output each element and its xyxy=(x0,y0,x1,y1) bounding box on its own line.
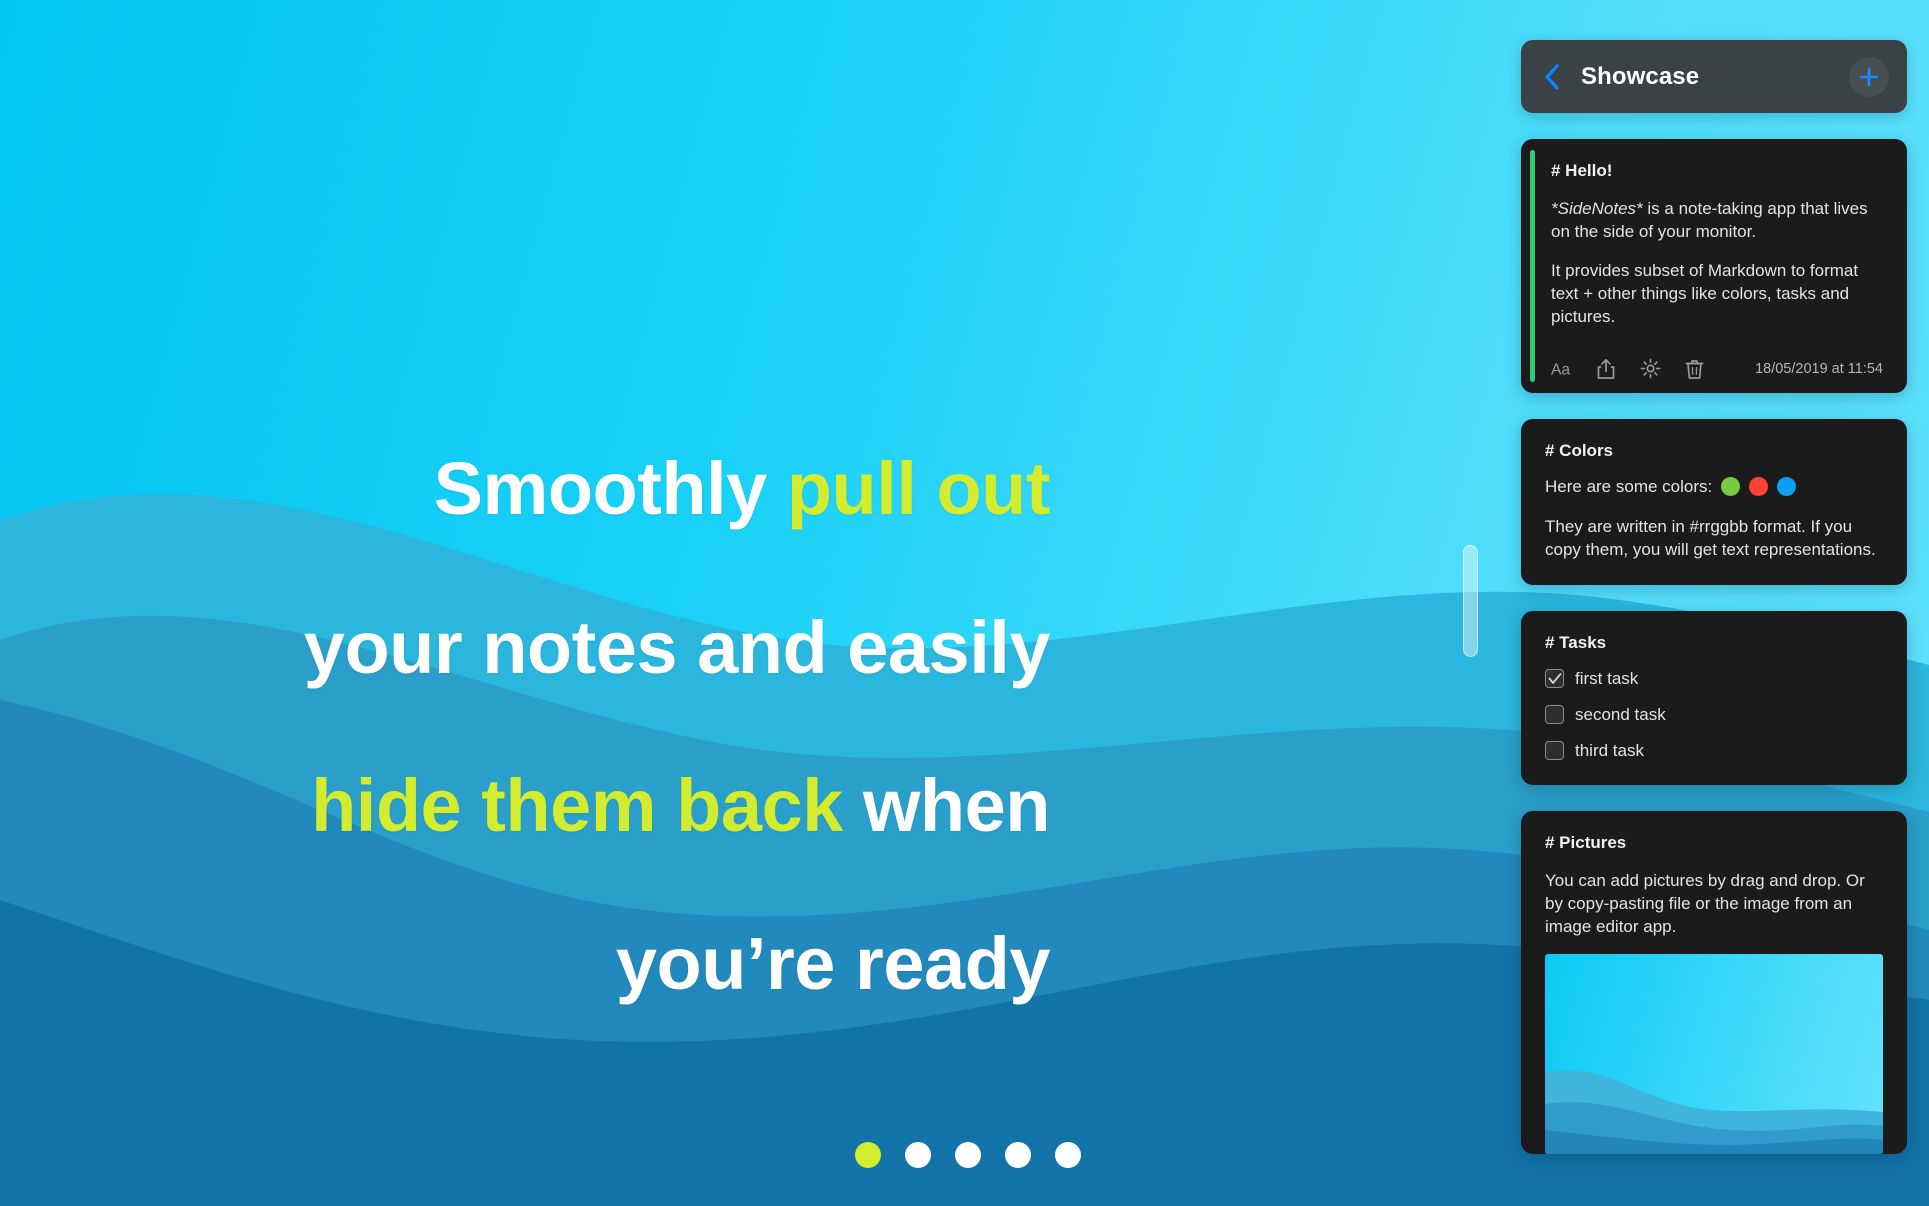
note-title: # Pictures xyxy=(1545,833,1883,853)
note-title: # Colors xyxy=(1545,441,1883,461)
pager-dot-4[interactable] xyxy=(1005,1142,1031,1168)
checkbox-unchecked-icon[interactable] xyxy=(1545,705,1564,724)
colors-line: Here are some colors: xyxy=(1545,477,1883,497)
checkmark-glyph xyxy=(1548,673,1562,685)
note-card-colors[interactable]: # Colors Here are some colors: They are … xyxy=(1521,419,1907,585)
back-chevron-icon[interactable] xyxy=(1539,62,1565,92)
task-row[interactable]: third task xyxy=(1545,741,1883,761)
note-card-pictures[interactable]: # Pictures You can add pictures by drag … xyxy=(1521,811,1907,1154)
color-swatch-blue[interactable] xyxy=(1777,477,1796,496)
checkbox-unchecked-icon[interactable] xyxy=(1545,741,1564,760)
pager-dots[interactable] xyxy=(855,1142,1081,1168)
note-image-thumbnail[interactable] xyxy=(1545,954,1883,1154)
gear-glyph xyxy=(1640,358,1661,379)
task-label: first task xyxy=(1575,669,1638,689)
note-timestamp: 18/05/2019 at 11:54 xyxy=(1755,361,1883,377)
note-paragraph: It provides subset of Markdown to format… xyxy=(1551,259,1883,328)
thumbnail-wave-graphic xyxy=(1545,954,1883,1154)
note-italic-text: *SideNotes* xyxy=(1551,199,1643,218)
pager-dot-3[interactable] xyxy=(955,1142,981,1168)
trash-icon[interactable] xyxy=(1683,358,1705,380)
font-glyph: Aa xyxy=(1551,360,1573,378)
pager-dot-1[interactable] xyxy=(855,1142,881,1168)
task-row[interactable]: first task xyxy=(1545,669,1883,689)
note-toolbar: Aa xyxy=(1551,345,1883,393)
note-paragraph: You can add pictures by drag and drop. O… xyxy=(1545,869,1883,938)
panel-header: Showcase xyxy=(1521,40,1907,113)
color-swatch-red[interactable] xyxy=(1749,477,1768,496)
gear-icon[interactable] xyxy=(1639,358,1661,380)
note-tool-group: Aa xyxy=(1551,358,1705,380)
font-icon[interactable]: Aa xyxy=(1551,358,1573,380)
headline-line1-plain: Smoothly xyxy=(434,447,787,530)
headline-line3-highlight: hide them back xyxy=(311,764,843,847)
headline-line2: your notes and easily xyxy=(304,606,1050,689)
note-title: # Tasks xyxy=(1545,633,1883,653)
headline-line3-plain: when xyxy=(843,764,1050,847)
panel-title: Showcase xyxy=(1581,63,1849,91)
note-card-tasks[interactable]: # Tasks first task second task third tas… xyxy=(1521,611,1907,785)
share-glyph xyxy=(1596,358,1616,380)
page-title: Smoothly pull out your notes and easily … xyxy=(120,370,1050,1003)
panel-drag-handle[interactable] xyxy=(1463,545,1478,657)
checkbox-checked-icon[interactable] xyxy=(1545,669,1564,688)
color-swatch-green[interactable] xyxy=(1721,477,1740,496)
task-row[interactable]: second task xyxy=(1545,705,1883,725)
pager-dot-5[interactable] xyxy=(1055,1142,1081,1168)
headline-line4: you’re ready xyxy=(616,922,1050,1005)
task-label: third task xyxy=(1575,741,1644,761)
add-note-button[interactable] xyxy=(1849,57,1889,97)
note-accent-bar xyxy=(1530,150,1535,382)
task-label: second task xyxy=(1575,705,1666,725)
note-title: # Hello! xyxy=(1551,161,1883,181)
share-icon[interactable] xyxy=(1595,358,1617,380)
pager-dot-2[interactable] xyxy=(905,1142,931,1168)
note-paragraph: They are written in #rrggbb format. If y… xyxy=(1545,515,1883,561)
svg-text:Aa: Aa xyxy=(1551,361,1570,378)
sidenotes-panel: Showcase # Hello! *SideNotes* is a note-… xyxy=(1499,0,1929,1206)
note-paragraph: *SideNotes* is a note-taking app that li… xyxy=(1551,197,1883,243)
trash-glyph xyxy=(1685,358,1704,380)
plus-icon xyxy=(1858,66,1880,88)
note-card-hello[interactable]: # Hello! *SideNotes* is a note-taking ap… xyxy=(1521,139,1907,393)
headline-line1-highlight: pull out xyxy=(787,447,1050,530)
colors-prefix-label: Here are some colors: xyxy=(1545,477,1712,497)
chevron-left-glyph xyxy=(1544,64,1560,90)
